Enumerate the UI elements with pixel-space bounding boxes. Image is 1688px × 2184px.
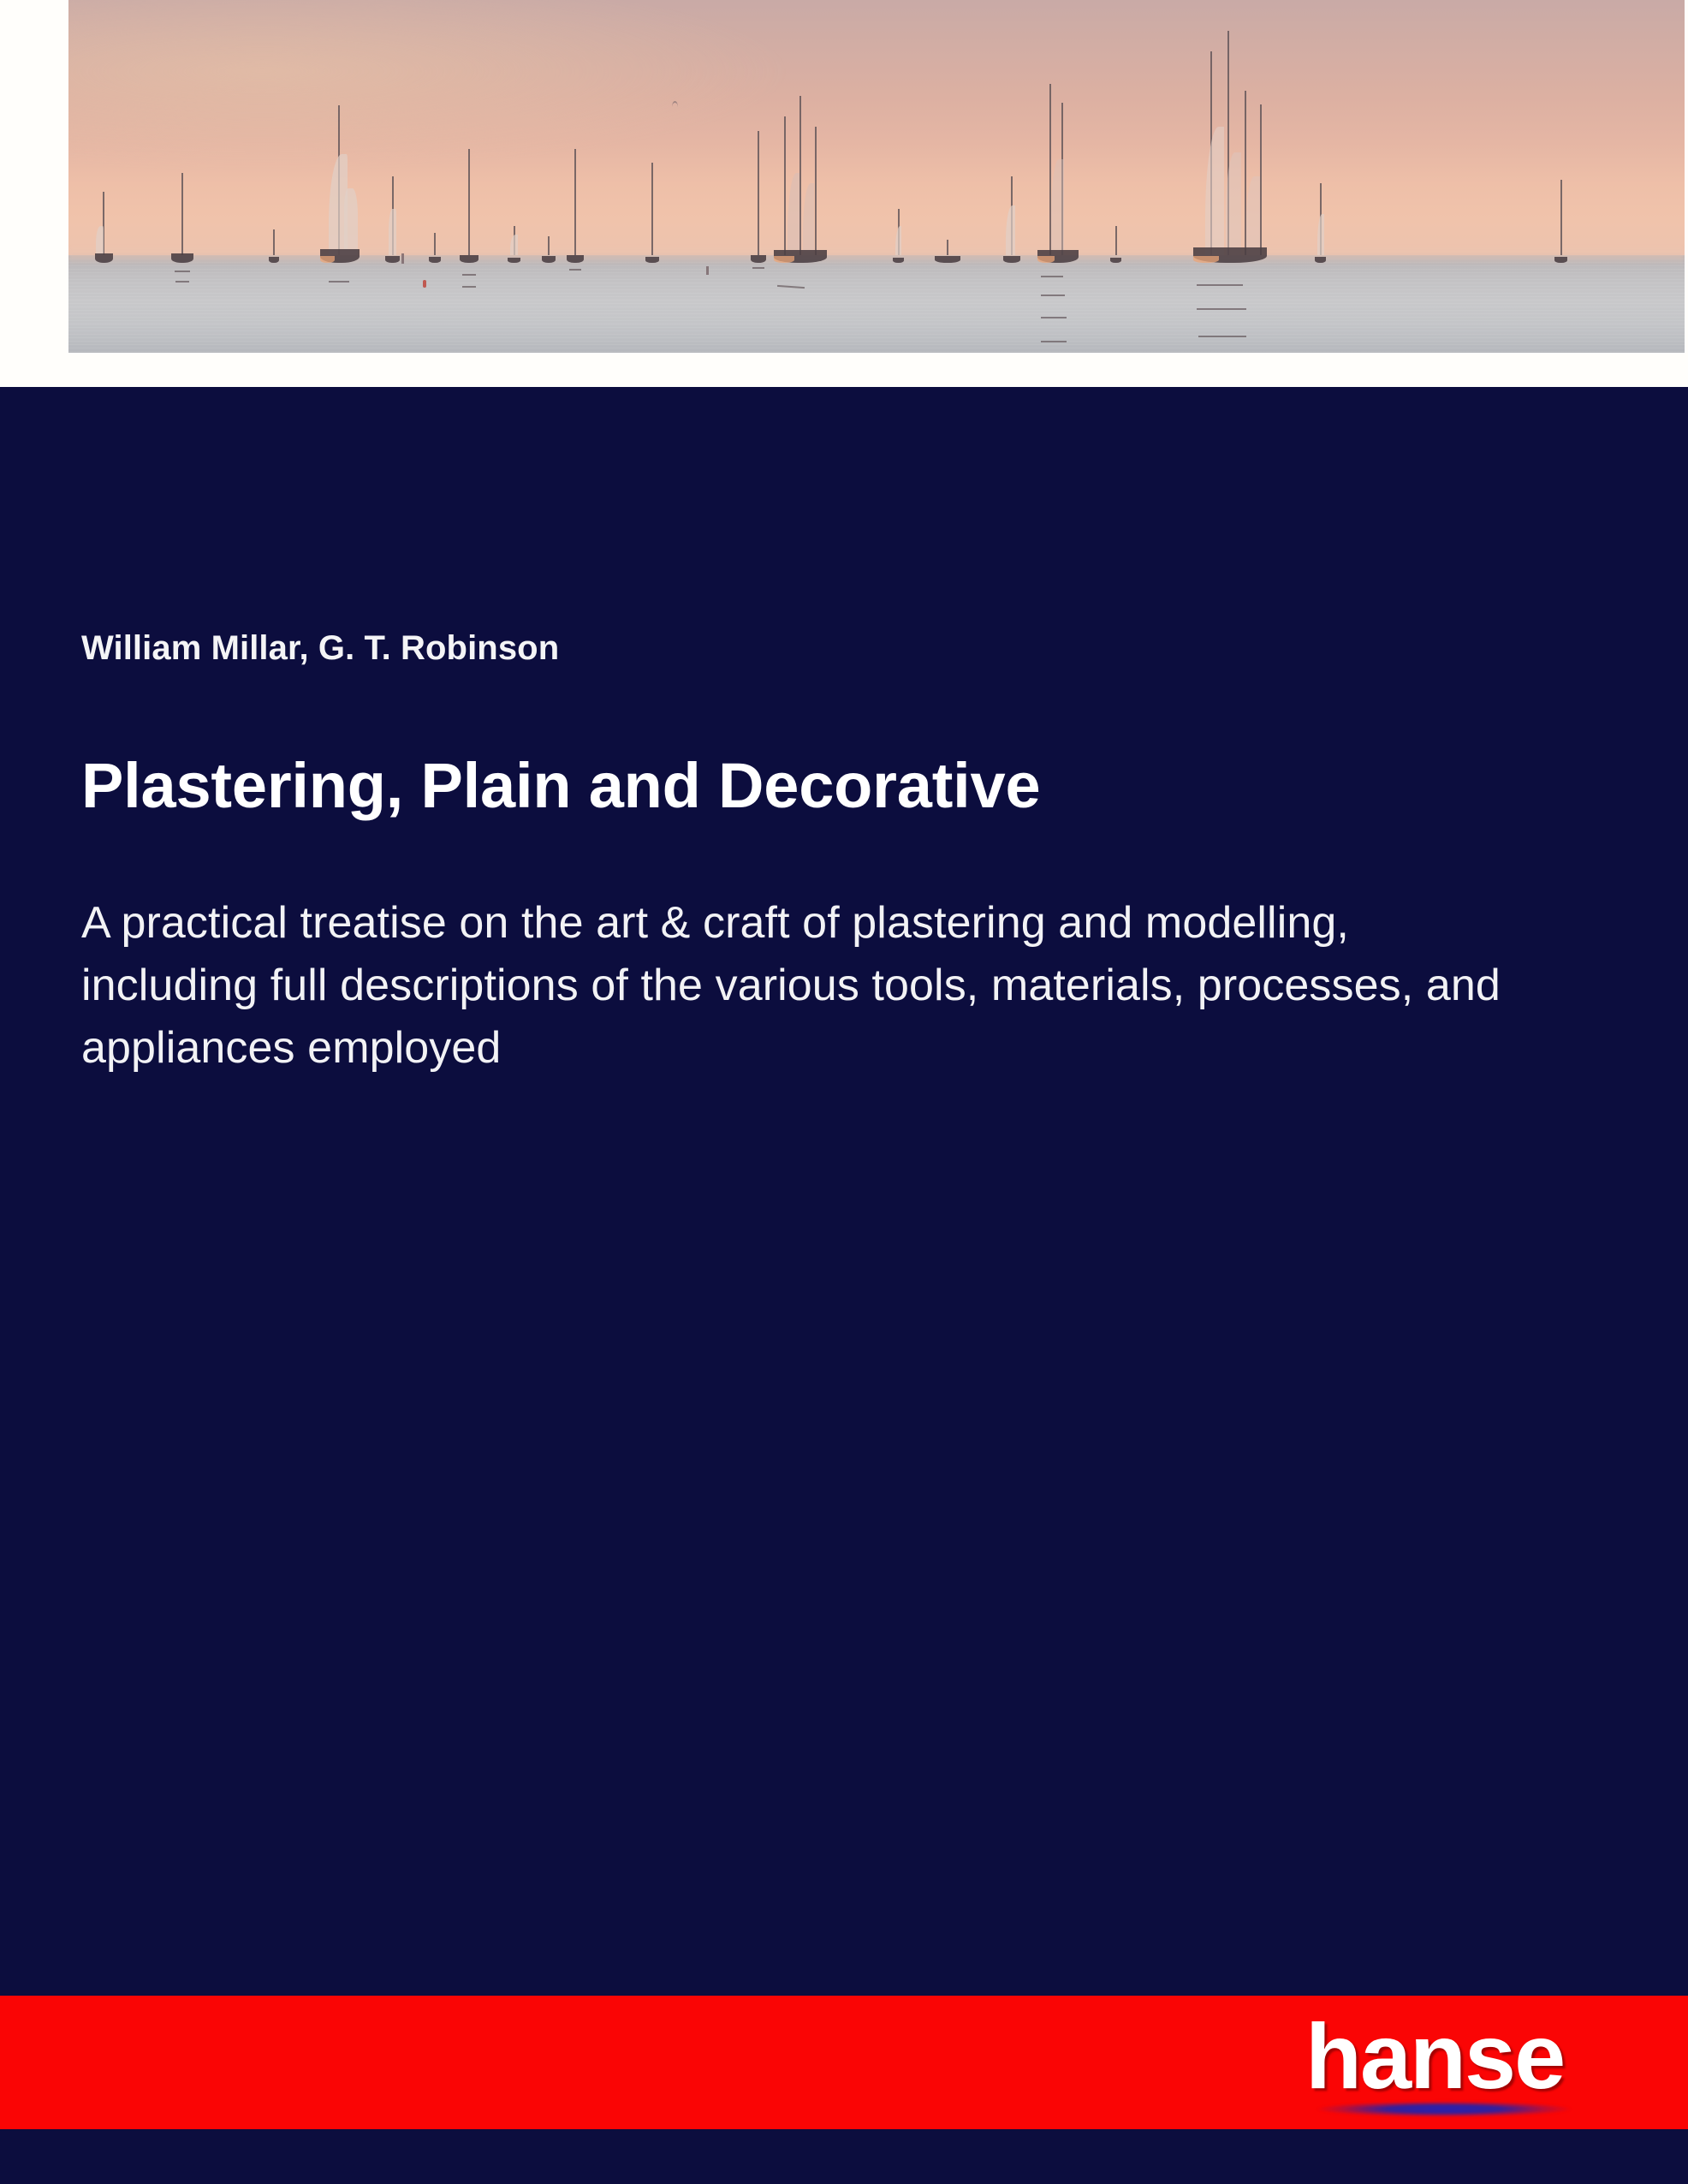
cover-body: William Millar, G. T. Robinson Plasterin…: [0, 387, 1688, 2184]
subtitle-text: A practical treatise on the art & craft …: [81, 892, 1502, 1079]
publisher-logo-text: hanse: [1305, 2010, 1564, 2103]
publisher-logo: hanse: [1305, 2010, 1596, 2122]
buoy-marker: [706, 266, 709, 275]
bird-icon: [672, 101, 678, 107]
book-cover: William Millar, G. T. Robinson Plasterin…: [0, 0, 1688, 2184]
cover-text-block: William Millar, G. T. Robinson Plasterin…: [81, 627, 1554, 1079]
buoy-marker-red: [423, 280, 426, 288]
horizon-haze: [68, 248, 1685, 265]
author-line: William Millar, G. T. Robinson: [81, 627, 1554, 669]
hero-photo-band: [0, 0, 1688, 387]
buoy-marker: [401, 253, 404, 264]
hero-photo-sailing-ships: [68, 0, 1685, 353]
publisher-logo-swoosh-icon: [1316, 2101, 1572, 2117]
sky-layer: [68, 0, 1685, 255]
page-title: Plastering, Plain and Decorative: [81, 749, 1554, 822]
sea-layer: [68, 255, 1685, 353]
cover-bottom-edge: [0, 2129, 1688, 2184]
